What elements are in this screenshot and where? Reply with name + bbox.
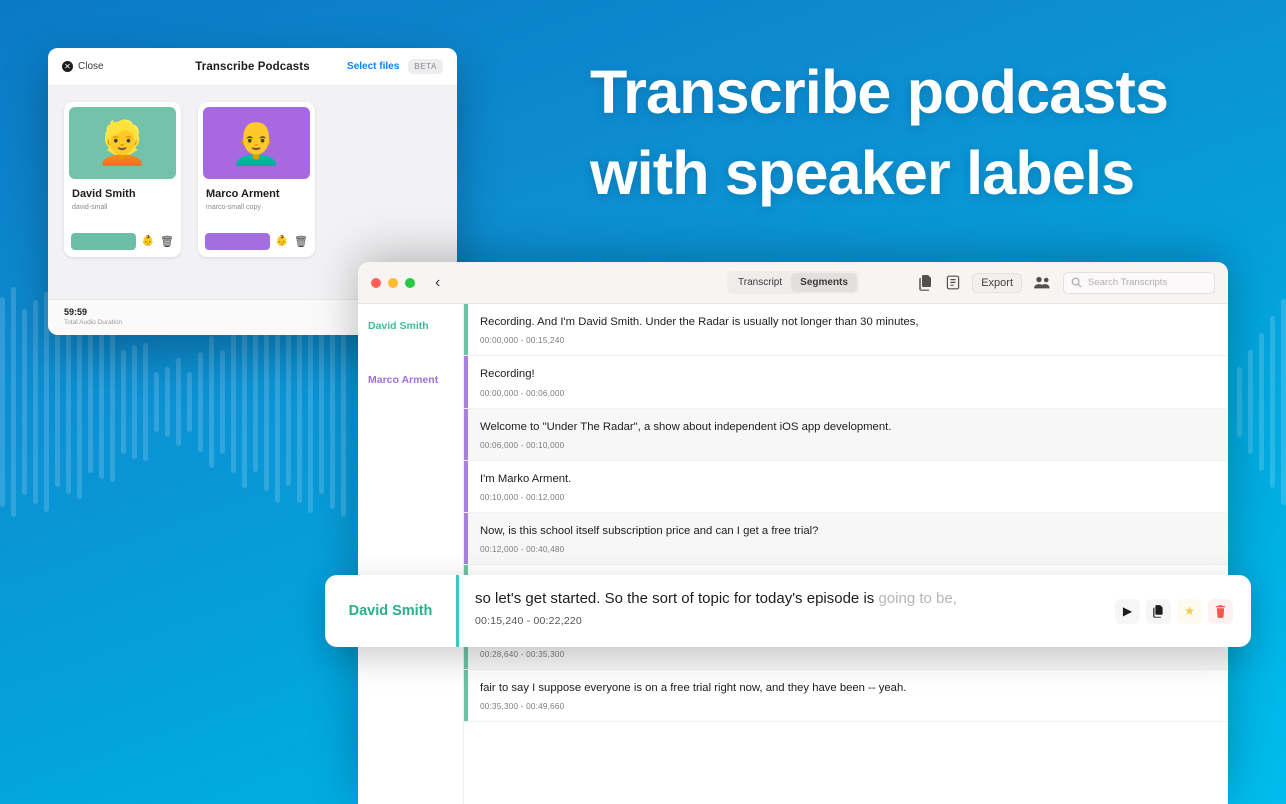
search-placeholder: Search Transcripts [1088, 277, 1167, 288]
waveform-bar [0, 297, 5, 507]
highlighted-segment-actions: ▶ ★ [1115, 575, 1251, 647]
waveform-bar [99, 325, 104, 478]
waveform-bar [66, 310, 71, 494]
waveform-bar [11, 287, 16, 518]
search-icon [1071, 277, 1082, 288]
export-document-icon[interactable] [946, 275, 960, 290]
headline-line-2: with speaker labels [590, 133, 1240, 214]
waveform-bar [319, 310, 324, 494]
waveform-bar [143, 343, 148, 461]
waveform-bar [88, 331, 93, 472]
segment-text: Recording. And I'm David Smith. Under th… [480, 315, 1212, 330]
waveform-bar [1259, 333, 1264, 471]
minimize-window-icon[interactable] [388, 278, 398, 288]
speaker-color-swatch[interactable] [205, 233, 270, 250]
tab-transcript[interactable]: Transcript [729, 273, 791, 292]
waveform-bar [1248, 350, 1253, 454]
transcript-toolbar: Export Search Transcripts [919, 272, 1215, 294]
segment-time: 00:12,000 - 00:40,480 [480, 545, 1212, 554]
chevron-left-icon[interactable]: ‹ [435, 275, 440, 291]
speaker-card[interactable]: 👨‍🦲Marco Armentmarco-small copy👶🗑 [198, 102, 315, 257]
waveform-bar [154, 372, 159, 432]
copy-documents-icon[interactable] [919, 275, 934, 291]
waveform-bar [176, 358, 181, 446]
rail-speaker-marco-arment[interactable]: Marco Arment [358, 374, 463, 386]
copy-icon[interactable] [1146, 599, 1171, 624]
segment-time: 00:06,000 - 00:10,000 [480, 441, 1212, 450]
view-mode-tabs: TranscriptSegments [727, 271, 859, 294]
beta-badge: BETA [408, 59, 443, 74]
waveform-bar [1281, 299, 1286, 505]
transcript-window: ‹ TranscriptSegments Export [358, 262, 1228, 804]
waveform-bar [187, 372, 192, 432]
highlighted-text-dim: going to be, [878, 590, 956, 607]
highlighted-segment-text: so let's get started. So the sort of top… [475, 590, 1115, 609]
speaker-filename: marco-small copy [206, 204, 310, 211]
speaker-card-tools: 👶🗑 [69, 233, 176, 252]
avatar-picker-icon[interactable]: 👶 [142, 237, 154, 247]
segment-time: 00:28,640 - 00:35,300 [480, 650, 1212, 659]
segment-row[interactable]: Now, is this school itself subscription … [464, 513, 1228, 565]
play-icon[interactable]: ▶ [1115, 599, 1140, 624]
traffic-lights [371, 278, 415, 288]
highlighted-text-emphasis: so let's get started. So the sort of top… [475, 590, 878, 607]
segment-row[interactable]: Recording. And I'm David Smith. Under th… [464, 304, 1228, 356]
waveform-bar [55, 317, 60, 486]
speaker-color-swatch[interactable] [71, 233, 136, 250]
trash-icon[interactable] [1208, 599, 1233, 624]
waveform-bar [121, 350, 126, 454]
segment-row[interactable]: I'm Marko Arment.00:10,000 - 00:12,000 [464, 461, 1228, 513]
star-icon[interactable]: ★ [1177, 599, 1202, 624]
tab-segments[interactable]: Segments [791, 273, 857, 292]
transcript-content: David SmithMarco Arment Recording. And I… [358, 304, 1228, 804]
speaker-filename: david-small [72, 204, 176, 211]
segment-list: Recording. And I'm David Smith. Under th… [464, 304, 1228, 804]
avatar-picker-icon[interactable]: 👶 [276, 237, 288, 247]
rail-speaker-david-smith[interactable]: David Smith [358, 320, 463, 332]
zoom-window-icon[interactable] [405, 278, 415, 288]
waveform-bar [209, 336, 214, 468]
waveform-bar [253, 332, 258, 472]
people-icon[interactable] [1034, 276, 1051, 289]
waveform-bar [231, 331, 236, 473]
speaker-card[interactable]: 👱David Smithdavid-small👶🗑 [64, 102, 181, 257]
close-window-icon[interactable] [371, 278, 381, 288]
segment-time: 00:00,000 - 00:06,000 [480, 389, 1212, 398]
waveform-bar [198, 352, 203, 452]
speaker-rail: David SmithMarco Arment [358, 304, 464, 804]
select-files-button[interactable]: Select files [347, 61, 399, 72]
page-headline: Transcribe podcasts with speaker labels [590, 52, 1240, 214]
segment-text: Now, is this school itself subscription … [480, 524, 1212, 539]
waveform-bar [242, 316, 247, 488]
waveform-bar [165, 367, 170, 437]
waveform-bar [286, 318, 291, 486]
segment-time: 00:00,000 - 00:15,240 [480, 336, 1212, 345]
segment-time: 00:10,000 - 00:12,000 [480, 493, 1212, 502]
transcribe-window-actions: Select files BETA [347, 59, 443, 74]
transcript-window-titlebar: ‹ TranscriptSegments Export [358, 262, 1228, 304]
segment-text: fair to say I suppose everyone is on a f… [480, 681, 1212, 696]
trash-icon[interactable]: 🗑 [294, 235, 308, 248]
speaker-avatar: 👨‍🦲 [203, 107, 310, 179]
highlighted-segment-card[interactable]: David Smith so let's get started. So the… [325, 575, 1251, 647]
segment-row[interactable]: Recording!00:00,000 - 00:06,000 [464, 356, 1228, 408]
highlighted-speaker-label: David Smith [325, 575, 456, 647]
segment-row[interactable]: Welcome to "Under The Radar", a show abo… [464, 409, 1228, 461]
waveform-bar [1270, 316, 1275, 488]
trash-icon[interactable]: 🗑 [160, 235, 174, 248]
highlighted-segment-time: 00:15,240 - 00:22,220 [475, 615, 1115, 627]
speaker-card-tools: 👶🗑 [203, 233, 310, 252]
segment-time: 00:35,300 - 00:49,660 [480, 702, 1212, 711]
waveform-bar [1237, 367, 1242, 437]
segment-text: Recording! [480, 367, 1212, 382]
speaker-name: David Smith [72, 188, 176, 200]
export-button[interactable]: Export [972, 273, 1022, 293]
waveform-bar [264, 313, 269, 490]
search-input[interactable]: Search Transcripts [1063, 272, 1215, 294]
waveform-bar [110, 322, 115, 482]
waveform-bar [132, 345, 137, 459]
headline-line-1: Transcribe podcasts [590, 52, 1240, 133]
waveform-bar [220, 350, 225, 453]
segment-row[interactable]: fair to say I suppose everyone is on a f… [464, 670, 1228, 722]
waveform-bar [22, 309, 27, 494]
speaker-name: Marco Arment [206, 188, 310, 200]
waveform-bar [33, 300, 38, 504]
transcribe-window-titlebar: ✕ Close Transcribe Podcasts Select files… [48, 48, 457, 86]
segment-text: Welcome to "Under The Radar", a show abo… [480, 420, 1212, 435]
highlighted-segment-body: so let's get started. So the sort of top… [456, 575, 1115, 647]
speaker-avatar: 👱 [69, 107, 176, 179]
segment-text: I'm Marko Arment. [480, 472, 1212, 487]
